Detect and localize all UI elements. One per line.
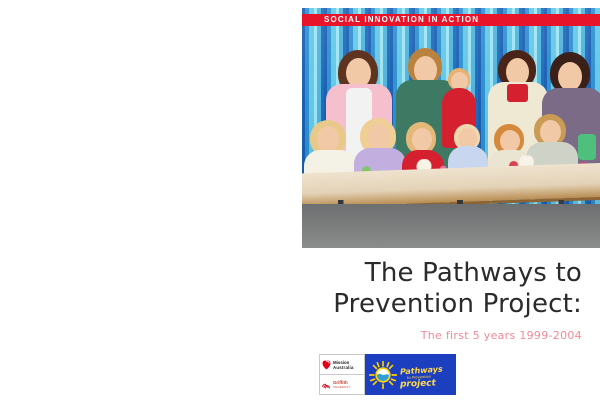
logo-strip: Mission Australia Griffith UNIVERSITY	[319, 354, 456, 395]
subtitle: The first 5 years 1999-2004	[162, 329, 582, 342]
sun-icon	[369, 361, 397, 389]
griffith-university-logo: Griffith UNIVERSITY	[320, 374, 364, 394]
mission-australia-line2: Australia	[333, 365, 354, 370]
mission-australia-wordmark: Mission Australia	[333, 360, 354, 370]
pathways-to-prevention-logo: Pathways to Prevention project	[365, 354, 456, 395]
griffith-line1: Griffith	[333, 380, 348, 385]
title-line-2: Prevention Project:	[162, 289, 582, 320]
social-innovation-banner-label: SOCIAL INNOVATION IN ACTION	[320, 14, 485, 26]
griffith-wordmark: Griffith UNIVERSITY	[333, 380, 351, 390]
title-line-1: The Pathways to	[162, 258, 582, 289]
cover-photo: SOCIAL INNOVATION IN ACTION	[302, 8, 600, 248]
mission-australia-logo: Mission Australia	[320, 355, 364, 374]
page-title: The Pathways to Prevention Project: The …	[162, 258, 582, 342]
pathways-wordmark: Pathways to Prevention project	[400, 360, 443, 390]
griffith-line2: UNIVERSITY	[333, 385, 351, 390]
floor	[302, 204, 600, 248]
partner-logo-stack: Mission Australia Griffith UNIVERSITY	[319, 354, 365, 395]
heart-icon	[322, 359, 331, 370]
pathways-line3: project	[400, 380, 443, 390]
griffith-wave-icon	[322, 380, 331, 389]
mission-australia-line1: Mission	[333, 360, 349, 365]
